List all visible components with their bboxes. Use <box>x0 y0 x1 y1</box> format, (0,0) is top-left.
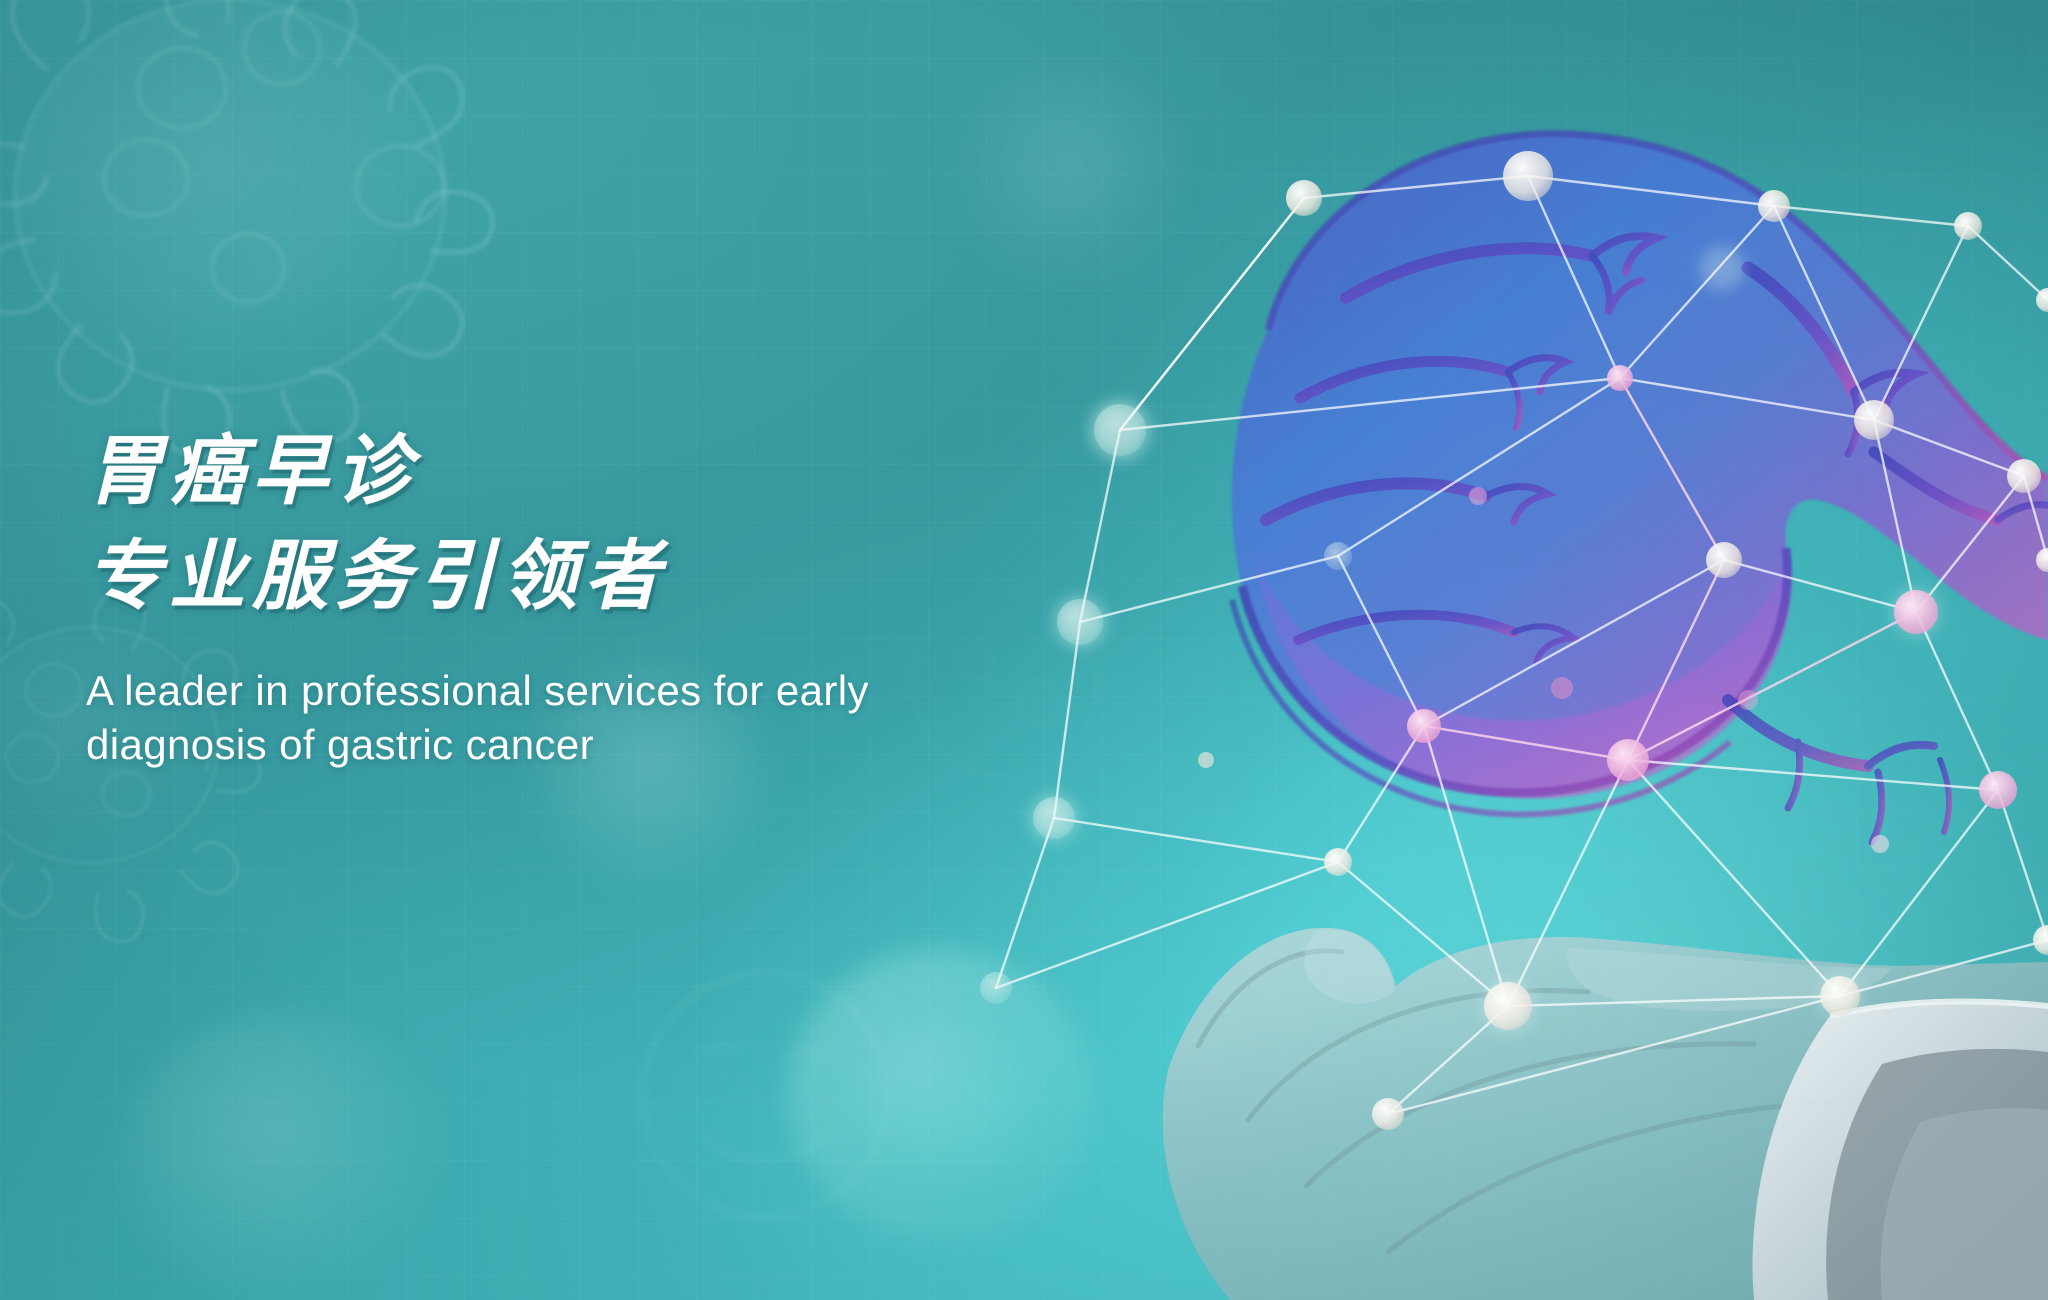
hero-copy: 胃癌早诊 专业服务引领者 A leader in professional se… <box>86 420 1086 771</box>
headline-line-1: 胃癌早诊 <box>86 420 1086 525</box>
subhead-line-2: diagnosis of gastric cancer <box>86 718 876 772</box>
hero-banner: 胃癌早诊 专业服务引领者 A leader in professional se… <box>0 0 2048 1300</box>
subhead: A leader in professional services for ea… <box>86 664 876 772</box>
headline-line-2: 专业服务引领者 <box>86 525 1086 630</box>
subhead-line-1: A leader in professional services for ea… <box>86 664 876 718</box>
